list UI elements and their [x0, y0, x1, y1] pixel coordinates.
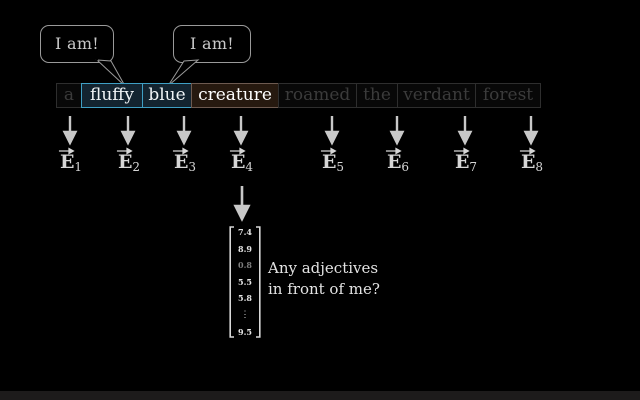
down-arrow-1 — [63, 116, 77, 144]
down-arrow-3 — [177, 116, 191, 144]
embedding-to-vector-arrow — [234, 186, 250, 220]
slide-canvas: I am! I am! a fluffy blue creature roame… — [0, 0, 640, 400]
embedding-sub-5: 5 — [336, 160, 344, 174]
vector-overline-wrap-2: E — [118, 150, 132, 172]
token-roamed[interactable]: roamed — [278, 83, 357, 108]
vector-overline-wrap-3: E — [174, 150, 188, 172]
embedding-base-8: E — [521, 151, 535, 173]
vector-overline-arrow-icon — [454, 148, 468, 154]
down-arrow-5 — [325, 116, 339, 144]
embedding-base-4: E — [231, 151, 245, 173]
vector-overline-arrow-icon — [117, 148, 131, 154]
embedding-base-3: E — [174, 151, 188, 173]
vector-overline-arrow-icon — [520, 148, 534, 154]
token-fluffy[interactable]: fluffy — [81, 83, 143, 108]
embedding-base-5: E — [322, 151, 336, 173]
vector-overline-wrap-6: E — [387, 150, 401, 172]
vector-value-1: 7.4 — [238, 228, 252, 236]
vector-overline-wrap-8: E — [521, 150, 535, 172]
vector-value-last: 9.5 — [238, 328, 252, 336]
embedding-label-1: E1 — [60, 150, 82, 173]
speech-bubble-2-text: I am! — [190, 36, 234, 52]
embedding-base-6: E — [387, 151, 401, 173]
query-question-text: Any adjectives in front of me? — [268, 258, 380, 301]
embedding-label-6: E6 — [387, 150, 409, 173]
embedding-column-vector: 7.4 8.9 0.8 5.5 5.8 ⋮ 9.5 — [229, 226, 261, 338]
vector-overline-wrap-4: E — [231, 150, 245, 172]
token-verdant[interactable]: verdant — [397, 83, 476, 108]
token-a[interactable]: a — [56, 83, 82, 108]
vector-overline-arrow-icon — [386, 148, 400, 154]
embedding-label-5: E5 — [322, 150, 344, 173]
vector-overline-arrow-icon — [321, 148, 335, 154]
vector-overline-wrap-7: E — [455, 150, 469, 172]
bracket-right-icon — [255, 226, 261, 338]
vector-overline-wrap-5: E — [322, 150, 336, 172]
down-arrow-8 — [524, 116, 538, 144]
embedding-base-2: E — [118, 151, 132, 173]
token-forest[interactable]: forest — [475, 83, 541, 108]
token-the[interactable]: the — [356, 83, 398, 108]
query-question-line2: in front of me? — [268, 279, 380, 300]
embedding-label-7: E7 — [455, 150, 477, 173]
embedding-sub-8: 8 — [535, 160, 543, 174]
down-arrow-7 — [458, 116, 472, 144]
vector-overline-arrow-icon — [173, 148, 187, 154]
embedding-sub-1: 1 — [74, 160, 82, 174]
speech-bubble-1-text: I am! — [55, 36, 99, 52]
embedding-base-1: E — [60, 151, 74, 173]
embedding-base-7: E — [455, 151, 469, 173]
embedding-sub-6: 6 — [401, 160, 409, 174]
embedding-sub-3: 3 — [188, 160, 196, 174]
embedding-sub-2: 2 — [132, 160, 140, 174]
vector-overline-arrow-icon — [59, 148, 73, 154]
vector-value-list: 7.4 8.9 0.8 5.5 5.8 ⋮ 9.5 — [235, 226, 255, 338]
embedding-label-8: E8 — [521, 150, 543, 173]
vector-value-5: 5.8 — [238, 294, 252, 302]
bottom-status-bar — [0, 391, 640, 400]
vector-value-4: 5.5 — [238, 278, 252, 286]
vector-ellipsis: ⋮ — [241, 311, 250, 320]
embedding-sub-7: 7 — [469, 160, 477, 174]
sentence-token-row: a fluffy blue creature roamed the verdan… — [56, 83, 541, 108]
vector-value-2: 8.9 — [238, 245, 252, 253]
vector-overline-arrow-icon — [230, 148, 244, 154]
vector-overline-wrap-1: E — [60, 150, 74, 172]
query-question-line1: Any adjectives — [268, 258, 380, 279]
embedding-label-3: E3 — [174, 150, 196, 173]
embedding-label-2: E2 — [118, 150, 140, 173]
down-arrow-6 — [390, 116, 404, 144]
token-blue[interactable]: blue — [142, 83, 192, 108]
vector-value-3: 0.8 — [238, 261, 252, 269]
embedding-label-4: E4 — [231, 150, 253, 173]
embedding-sub-4: 4 — [245, 160, 253, 174]
token-creature[interactable]: creature — [191, 83, 279, 108]
down-arrow-2 — [121, 116, 135, 144]
down-arrow-4 — [234, 116, 248, 144]
